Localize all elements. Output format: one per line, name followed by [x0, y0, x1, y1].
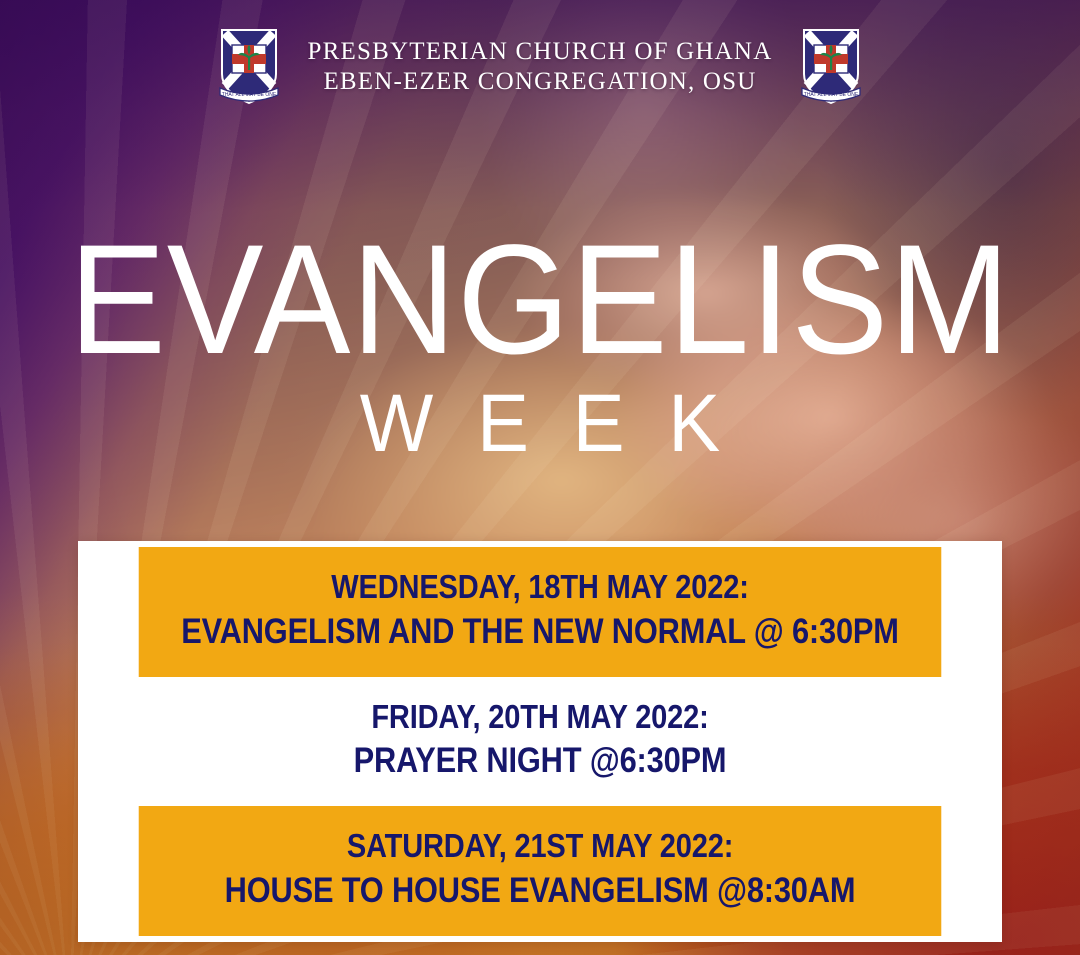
svg-text:THAT ALL MAY BE ONE: THAT ALL MAY BE ONE: [221, 92, 276, 98]
schedule-event: HOUSE TO HOUSE EVANGELISM @8:30AM: [156, 868, 923, 914]
evangelism-week-poster: THAT ALL MAY BE ONE PRESBYTERIAN CHURCH …: [0, 0, 1080, 955]
schedule-event: EVANGELISM AND THE NEW NORMAL @ 6:30PM: [156, 609, 923, 655]
schedule-block: WEDNESDAY, 18TH MAY 2022: EVANGELISM AND…: [78, 541, 1002, 942]
schedule-row: FRIDAY, 20TH MAY 2022: PRAYER NIGHT @6:3…: [139, 677, 942, 807]
schedule-date: SATURDAY, 21ST MAY 2022:: [156, 824, 923, 868]
svg-text:THAT ALL MAY BE ONE: THAT ALL MAY BE ONE: [804, 92, 859, 98]
church-name: PRESBYTERIAN CHURCH OF GHANA: [308, 37, 773, 68]
poster-subtitle: WEEK: [27, 383, 1053, 465]
poster-title: EVANGELISM: [38, 222, 1042, 378]
crest-right-icon: THAT ALL MAY BE ONE: [798, 24, 864, 110]
schedule-event: PRAYER NIGHT @6:30PM: [156, 738, 923, 784]
poster-header: THAT ALL MAY BE ONE PRESBYTERIAN CHURCH …: [0, 24, 1080, 110]
schedule-row: WEDNESDAY, 18TH MAY 2022: EVANGELISM AND…: [139, 547, 942, 677]
schedule-date: FRIDAY, 20TH MAY 2022:: [156, 695, 923, 739]
congregation-name: EBEN-EZER CONGREGATION, OSU: [308, 67, 773, 98]
schedule-date: WEDNESDAY, 18TH MAY 2022:: [156, 565, 923, 609]
header-title-block: PRESBYTERIAN CHURCH OF GHANA EBEN-EZER C…: [308, 37, 773, 98]
schedule-row: SATURDAY, 21ST MAY 2022: HOUSE TO HOUSE …: [139, 806, 942, 936]
crest-left-icon: THAT ALL MAY BE ONE: [216, 24, 282, 110]
